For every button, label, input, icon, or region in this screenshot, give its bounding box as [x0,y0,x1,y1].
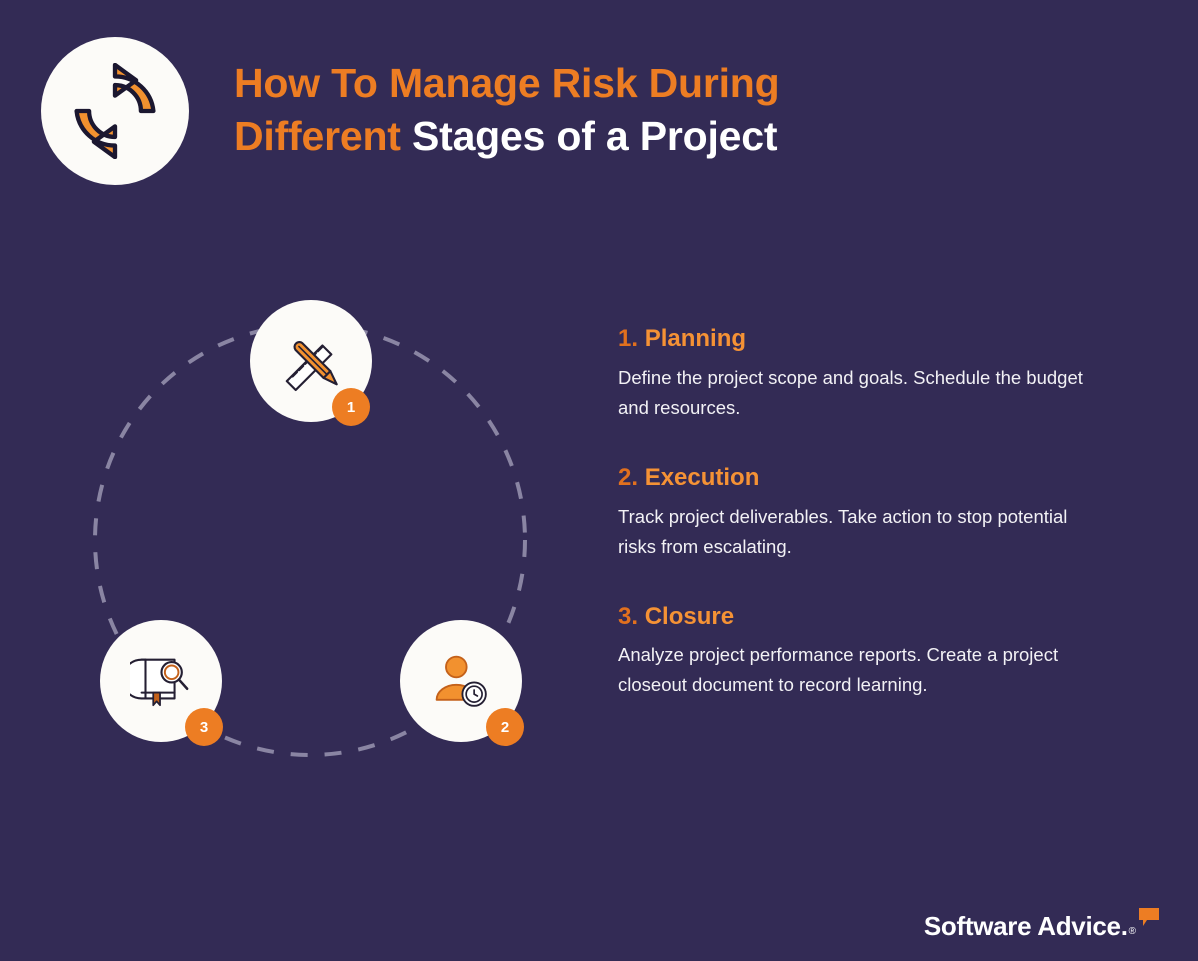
title-line-1: How To Manage Risk During [234,57,954,110]
title-line-2-white-text: Stages of a Project [412,113,777,159]
step-3-title: 3. Closure [618,603,1118,632]
step-2-number: 2. [618,464,638,491]
refresh-cycle-icon [67,63,163,159]
steps-list: 1. Planning Define the project scope and… [618,325,1118,700]
pencil-ruler-icon [280,330,342,392]
step-item: 1. Planning Define the project scope and… [618,325,1118,423]
step-2-label: Execution [645,464,760,491]
title-line-1-text: How To Manage Risk During [234,60,780,106]
badge-2: 2 [486,708,524,746]
step-2-title: 2. Execution [618,464,1118,493]
step-2-body: Track project deliverables. Take action … [618,502,1088,562]
brand-name: Software Advice. [924,913,1128,939]
page-title: How To Manage Risk During Different Stag… [234,57,954,163]
speech-bubble-icon [1138,907,1160,932]
title-line-2-orange-text: Different [234,113,401,159]
badge-1: 1 [332,388,370,426]
step-item: 2. Execution Track project deliverables.… [618,464,1118,562]
cycle-diagram: 1 2 [60,270,600,810]
book-magnifier-icon [130,650,192,712]
brand-registered-mark: ® [1129,926,1136,939]
person-clock-icon [431,651,491,711]
step-1-title: 1. Planning [618,325,1118,354]
step-1-body: Define the project scope and goals. Sche… [618,363,1088,423]
step-3-label: Closure [645,603,734,630]
badge-3-number: 3 [200,720,208,735]
step-1-number: 1. [618,325,638,352]
step-item: 3. Closure Analyze project performance r… [618,603,1118,701]
header: How To Manage Risk During Different Stag… [0,0,1198,200]
brand-logo: Software Advice. ® [924,913,1160,939]
badge-3: 3 [185,708,223,746]
step-3-body: Analyze project performance reports. Cre… [618,640,1088,700]
step-3-number: 3. [618,603,638,630]
step-1-label: Planning [645,325,746,352]
badge-2-number: 2 [501,720,509,735]
badge-1-number: 1 [347,400,355,415]
logo-badge [41,37,189,185]
title-line-2: Different Stages of a Project [234,110,954,163]
